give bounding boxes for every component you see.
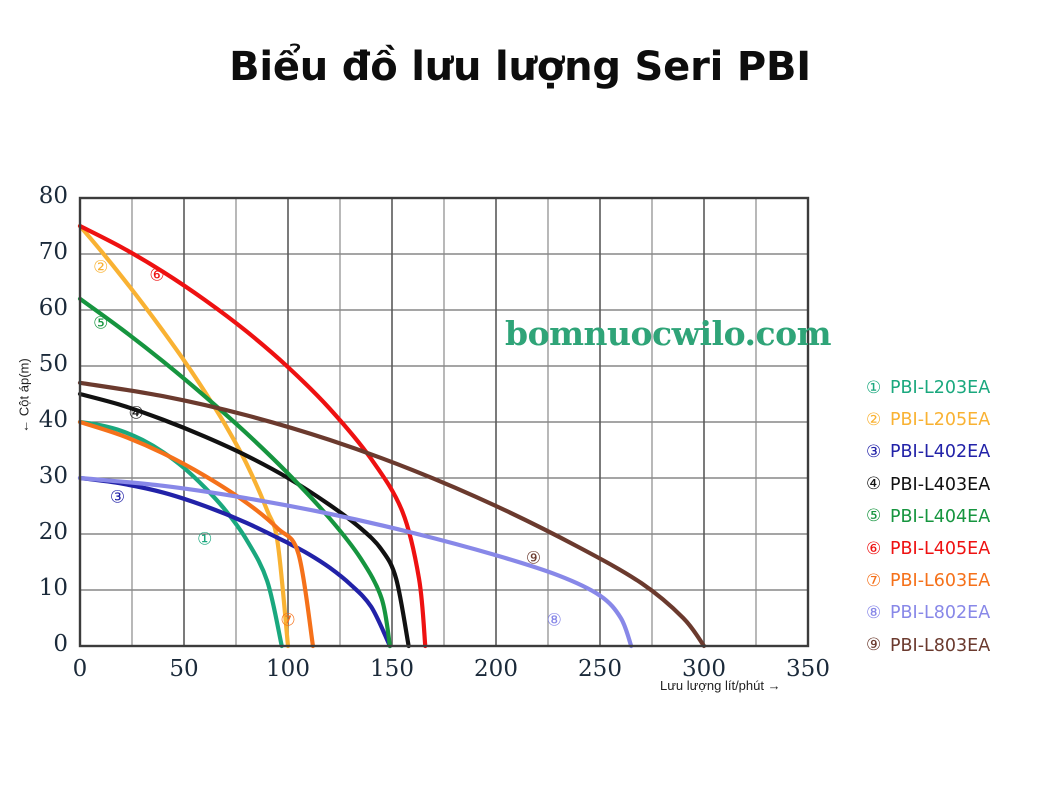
- legend-marker-icon: ⑤: [866, 508, 890, 525]
- legend-marker-icon: ⑨: [866, 637, 890, 654]
- legend-item-label: PBI-L402EA: [890, 442, 990, 462]
- x-tick-label: 50: [154, 656, 214, 682]
- y-tick-label: 70: [24, 239, 68, 265]
- legend-item-label: PBI-L405EA: [890, 539, 990, 559]
- legend-marker-icon: ①: [866, 380, 890, 397]
- legend-item-PBI-L403EA[interactable]: ④PBI-L403EA: [866, 469, 1036, 501]
- curve-PBI-L402EA: [80, 478, 390, 646]
- legend-item-label: PBI-L802EA: [890, 603, 990, 623]
- y-tick-label: 80: [24, 183, 68, 209]
- legend-marker-icon: ⑥: [866, 541, 890, 558]
- x-tick-label: 100: [258, 656, 318, 682]
- legend-item-PBI-L402EA[interactable]: ③PBI-L402EA: [866, 436, 1036, 468]
- legend-item-PBI-L404EA[interactable]: ⑤PBI-L404EA: [866, 501, 1036, 533]
- chart-figure: bomnuocwilo.com ← Cột áp(m) Lưu lượng lí…: [0, 150, 1040, 710]
- legend-item-label: PBI-L403EA: [890, 475, 990, 495]
- legend-marker-icon: ⑦: [866, 573, 890, 590]
- legend-item-PBI-L405EA[interactable]: ⑥PBI-L405EA: [866, 533, 1036, 565]
- legend-item-PBI-L603EA[interactable]: ⑦PBI-L603EA: [866, 565, 1036, 597]
- legend-item-label: PBI-L203EA: [890, 378, 990, 398]
- legend-item-label: PBI-L205EA: [890, 410, 990, 430]
- x-tick-label: 200: [466, 656, 526, 682]
- x-tick-label: 0: [50, 656, 110, 682]
- y-tick-label: 60: [24, 295, 68, 321]
- legend-marker-icon: ②: [866, 412, 890, 429]
- x-tick-label: 300: [674, 656, 734, 682]
- legend-marker-icon: ④: [866, 476, 890, 493]
- legend-marker-icon: ③: [866, 444, 890, 461]
- y-tick-label: 20: [24, 519, 68, 545]
- y-tick-label: 30: [24, 463, 68, 489]
- y-tick-label: 0: [24, 631, 68, 657]
- curve-PBI-L404EA: [80, 299, 390, 646]
- y-tick-label: 50: [24, 351, 68, 377]
- legend-item-PBI-L203EA[interactable]: ①PBI-L203EA: [866, 372, 1036, 404]
- x-tick-label: 350: [778, 656, 838, 682]
- grid-layer: [80, 198, 808, 646]
- legend-item-label: PBI-L603EA: [890, 571, 990, 591]
- y-tick-label: 40: [24, 407, 68, 433]
- x-tick-label: 150: [362, 656, 422, 682]
- legend-item-label: PBI-L404EA: [890, 507, 990, 527]
- legend-item-PBI-L802EA[interactable]: ⑧PBI-L802EA: [866, 597, 1036, 629]
- legend-item-PBI-L803EA[interactable]: ⑨PBI-L803EA: [866, 630, 1036, 662]
- page-title: Biểu đồ lưu lượng Seri PBI: [0, 44, 1040, 90]
- legend: ①PBI-L203EA②PBI-L205EA③PBI-L402EA④PBI-L4…: [866, 372, 1036, 662]
- legend-marker-icon: ⑧: [866, 605, 890, 622]
- legend-item-PBI-L205EA[interactable]: ②PBI-L205EA: [866, 404, 1036, 436]
- x-tick-label: 250: [570, 656, 630, 682]
- legend-item-label: PBI-L803EA: [890, 636, 990, 656]
- y-tick-label: 10: [24, 575, 68, 601]
